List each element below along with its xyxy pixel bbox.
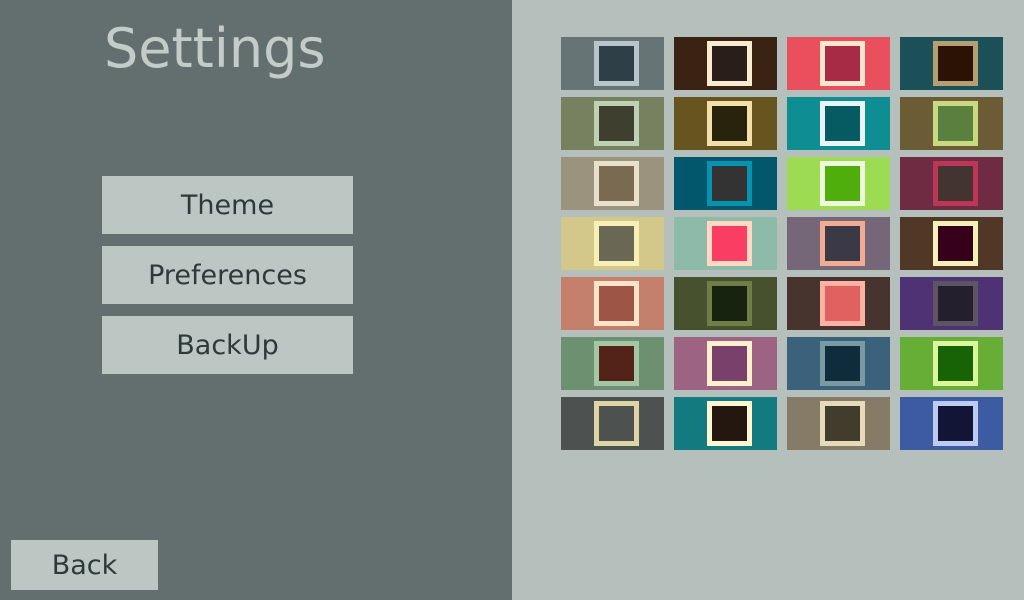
back-button[interactable]: Back	[11, 540, 158, 590]
menu-button-backup[interactable]: BackUp	[102, 316, 353, 374]
theme-swatch-inner	[599, 406, 634, 441]
theme-swatch-frame	[594, 41, 639, 86]
theme-swatch-frame	[594, 401, 639, 446]
theme-swatch-inner	[599, 226, 634, 261]
theme-swatch-mustard-olive[interactable]	[674, 97, 777, 150]
theme-swatch-frame	[820, 281, 865, 326]
theme-swatch-frame	[707, 401, 752, 446]
theme-swatch-mint-pink[interactable]	[674, 217, 777, 270]
theme-swatch-inner	[712, 166, 747, 201]
theme-swatch-indigo-navy[interactable]	[900, 397, 1003, 450]
theme-swatch-inner	[938, 346, 973, 381]
theme-swatch-apple-green[interactable]	[900, 337, 1003, 390]
theme-swatch-royal-purple[interactable]	[900, 277, 1003, 330]
theme-swatch-frame	[707, 161, 752, 206]
theme-swatch-inner	[825, 166, 860, 201]
theme-swatch-frame	[933, 101, 978, 146]
theme-swatch-inner	[712, 106, 747, 141]
page-title: Settings	[104, 18, 325, 80]
theme-swatch-frame	[594, 101, 639, 146]
menu-button-label: Theme	[181, 190, 274, 221]
theme-swatch-inner	[712, 226, 747, 261]
theme-swatch-frame	[707, 341, 752, 386]
theme-swatch-frame	[707, 101, 752, 146]
menu-button-preferences[interactable]: Preferences	[102, 246, 353, 304]
theme-swatch-frame	[933, 161, 978, 206]
theme-swatch-inner	[825, 346, 860, 381]
theme-swatch-khaki-taupe[interactable]	[561, 157, 664, 210]
theme-swatch-inner	[825, 46, 860, 81]
theme-swatch-frame	[820, 101, 865, 146]
settings-left-panel: Settings ThemePreferencesBackUp Back	[0, 0, 512, 600]
theme-swatch-grid	[561, 37, 1003, 450]
theme-swatch-inner	[825, 406, 860, 441]
menu-button-label: Preferences	[148, 260, 307, 291]
theme-swatch-rosy-mauve[interactable]	[674, 337, 777, 390]
theme-swatch-inner	[599, 46, 634, 81]
theme-swatch-warm-gray-beige[interactable]	[787, 397, 890, 450]
theme-swatch-inner	[712, 406, 747, 441]
theme-swatch-deep-teal-brown[interactable]	[900, 37, 1003, 90]
theme-swatch-frame	[594, 281, 639, 326]
theme-swatch-frame	[820, 341, 865, 386]
theme-swatch-inner	[938, 406, 973, 441]
theme-swatch-olive-leaf[interactable]	[900, 97, 1003, 150]
settings-menu-list: ThemePreferencesBackUp	[102, 176, 353, 386]
theme-swatch-steel-navy[interactable]	[787, 337, 890, 390]
theme-swatch-frame	[820, 221, 865, 266]
theme-swatch-frame	[820, 401, 865, 446]
theme-swatch-inner	[938, 46, 973, 81]
theme-swatch-inner	[938, 286, 973, 321]
theme-swatch-inner	[825, 106, 860, 141]
theme-swatch-frame	[707, 221, 752, 266]
theme-swatch-frame	[820, 161, 865, 206]
theme-swatch-inner	[599, 286, 634, 321]
theme-swatch-forest-green[interactable]	[674, 277, 777, 330]
theme-swatch-inner	[938, 166, 973, 201]
theme-swatch-inner	[938, 106, 973, 141]
theme-swatch-terracotta[interactable]	[561, 277, 664, 330]
theme-swatch-frame	[707, 281, 752, 326]
theme-swatch-frame	[933, 341, 978, 386]
settings-screen: Settings ThemePreferencesBackUp Back Bla…	[0, 0, 1024, 600]
theme-swatch-inner	[712, 286, 747, 321]
theme-swatch-ocean-blue[interactable]	[674, 157, 777, 210]
theme-swatch-frame	[594, 161, 639, 206]
theme-swatch-frame	[933, 221, 978, 266]
theme-swatch-frame	[820, 41, 865, 86]
theme-swatch-inner	[712, 46, 747, 81]
theme-swatch-slate-blue-gray[interactable]	[561, 37, 664, 90]
theme-swatch-inner	[825, 286, 860, 321]
back-button-label: Back	[52, 550, 118, 581]
theme-swatch-wine-maroon[interactable]	[900, 157, 1003, 210]
theme-swatch-lime-green[interactable]	[787, 157, 890, 210]
theme-swatch-inner	[938, 226, 973, 261]
theme-swatch-charcoal-beige[interactable]	[561, 397, 664, 450]
theme-swatch-teal-cyan[interactable]	[787, 97, 890, 150]
theme-swatch-frame	[594, 341, 639, 386]
theme-swatch-frame	[933, 41, 978, 86]
theme-swatch-frame	[707, 41, 752, 86]
theme-chooser-panel: BlackBerryVietNam.net	[512, 0, 1024, 600]
theme-swatch-frame	[594, 221, 639, 266]
theme-swatch-cocoa-salmon[interactable]	[787, 277, 890, 330]
theme-swatch-olive-sage[interactable]	[561, 97, 664, 150]
theme-swatch-mauve-slate[interactable]	[787, 217, 890, 270]
menu-button-theme[interactable]: Theme	[102, 176, 353, 234]
theme-swatch-frame	[933, 401, 978, 446]
theme-swatch-inner	[599, 106, 634, 141]
theme-swatch-sage-brown[interactable]	[561, 337, 664, 390]
theme-swatch-inner	[599, 166, 634, 201]
theme-swatch-dark-espresso[interactable]	[674, 37, 777, 90]
theme-swatch-chocolate-plum[interactable]	[900, 217, 1003, 270]
theme-swatch-inner	[825, 226, 860, 261]
theme-swatch-coral-red[interactable]	[787, 37, 890, 90]
menu-button-label: BackUp	[176, 330, 278, 361]
theme-swatch-sand-yellow[interactable]	[561, 217, 664, 270]
theme-swatch-frame	[933, 281, 978, 326]
theme-swatch-inner	[599, 346, 634, 381]
theme-swatch-inner	[712, 346, 747, 381]
theme-swatch-teal-dark[interactable]	[674, 397, 777, 450]
